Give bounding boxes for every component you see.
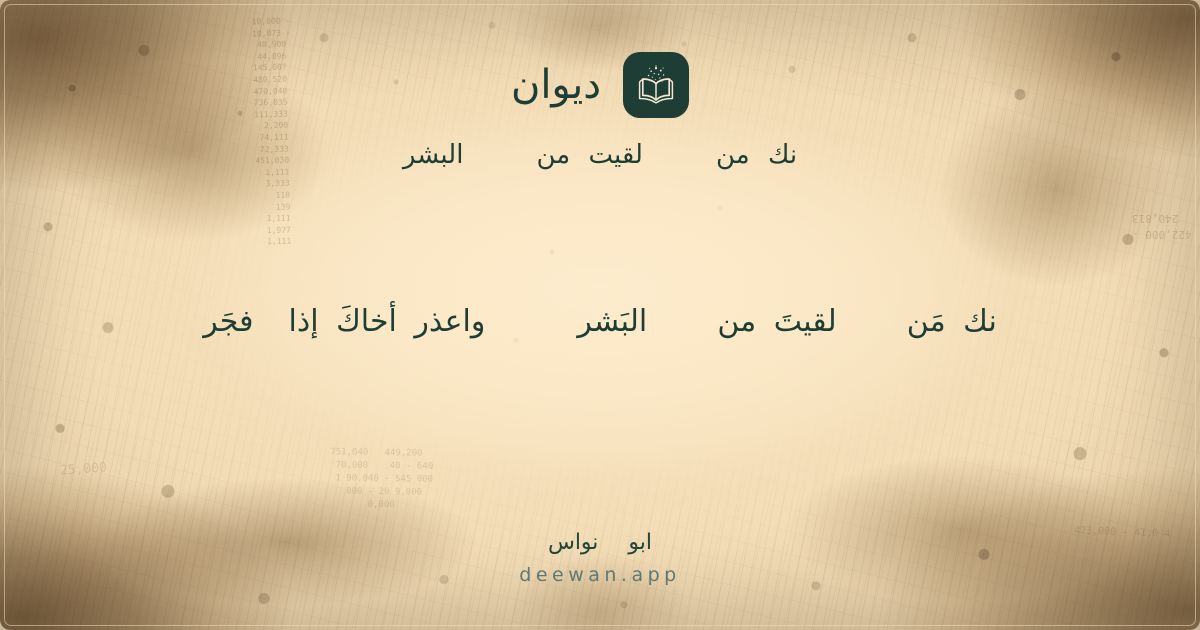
poetry-card: 10,000 - 10,073 - 40,900 44,096 145,007 … <box>0 0 1200 630</box>
verse-block: نك مَن لقيتَ من البَشر واعذر أخاكَ إذا ف… <box>0 304 1200 339</box>
brand-header: ديوان <box>511 52 689 118</box>
site-url: deewan.app <box>519 564 680 586</box>
brand-name: ديوان <box>511 65 601 105</box>
verse-right-hemistich: نك مَن لقيتَ من البَشر <box>577 304 996 339</box>
card-footer: ابو نواس deewan.app <box>0 530 1200 586</box>
poet-name: ابو نواس <box>548 530 652 555</box>
verse-left-hemistich: واعذر أخاكَ إذا فجَر <box>203 304 485 339</box>
subtitle-text: نك من لقيت من البشر <box>403 140 797 170</box>
open-book-sparkles-icon <box>623 52 689 118</box>
verse-line: نك مَن لقيتَ من البَشر واعذر أخاكَ إذا ف… <box>203 304 997 339</box>
